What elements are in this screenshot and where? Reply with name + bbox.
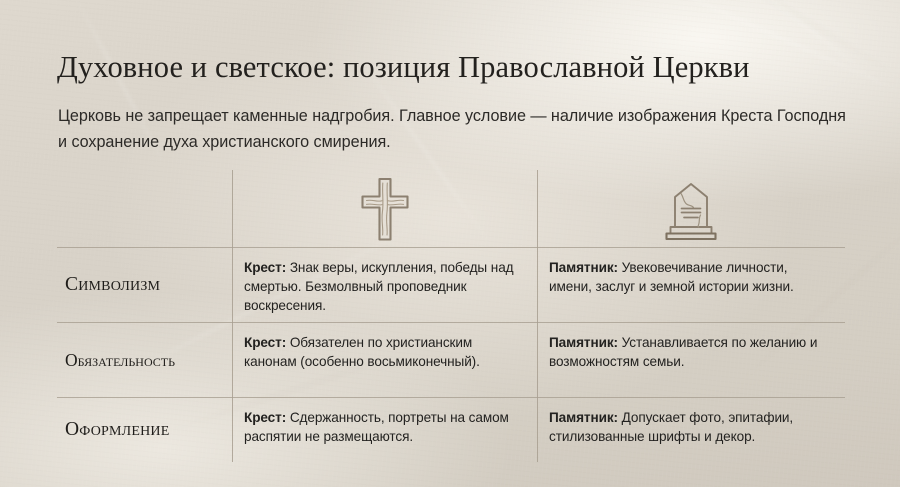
table-row-label-obligation: Обязательность xyxy=(57,322,232,397)
cell-prefix: Памятник: xyxy=(549,335,618,350)
table-cell-cross-obligation: Крест: Обязателен по христианским канона… xyxy=(232,322,537,397)
cell-prefix: Крест: xyxy=(244,410,286,425)
cell-prefix: Памятник: xyxy=(549,260,618,275)
page-title: Духовное и светское: позиция Православно… xyxy=(57,48,857,86)
table-cell-monument-obligation: Памятник: Устанавливается по желанию и в… xyxy=(537,322,845,397)
table-cell-cross-design: Крест: Сдержанность, портреты на самом р… xyxy=(232,397,537,462)
table-row-label-design: Оформление xyxy=(57,397,232,462)
comparison-table: Символизм Крест: Знак веры, искупления, … xyxy=(57,170,845,462)
slide-canvas: Духовное и светское: позиция Православно… xyxy=(0,0,900,487)
table-cell-monument-design: Памятник: Допускает фото, эпитафии, стил… xyxy=(537,397,845,462)
cell-prefix: Крест: xyxy=(244,260,286,275)
page-subtitle: Церковь не запрещает каменные надгробия.… xyxy=(58,104,848,155)
monument-icon xyxy=(659,177,723,241)
table-row-label-symbolism: Символизм xyxy=(57,247,232,322)
table-cell-monument-symbolism: Памятник: Увековечивание личности, имени… xyxy=(537,247,845,322)
table-cell-cross-symbolism: Крест: Знак веры, искупления, победы над… xyxy=(232,247,537,322)
cell-prefix: Памятник: xyxy=(549,410,618,425)
cell-prefix: Крест: xyxy=(244,335,286,350)
cross-icon xyxy=(359,176,411,242)
table-header-cell-monument xyxy=(537,170,845,247)
table-header-cell-cross xyxy=(232,170,537,247)
